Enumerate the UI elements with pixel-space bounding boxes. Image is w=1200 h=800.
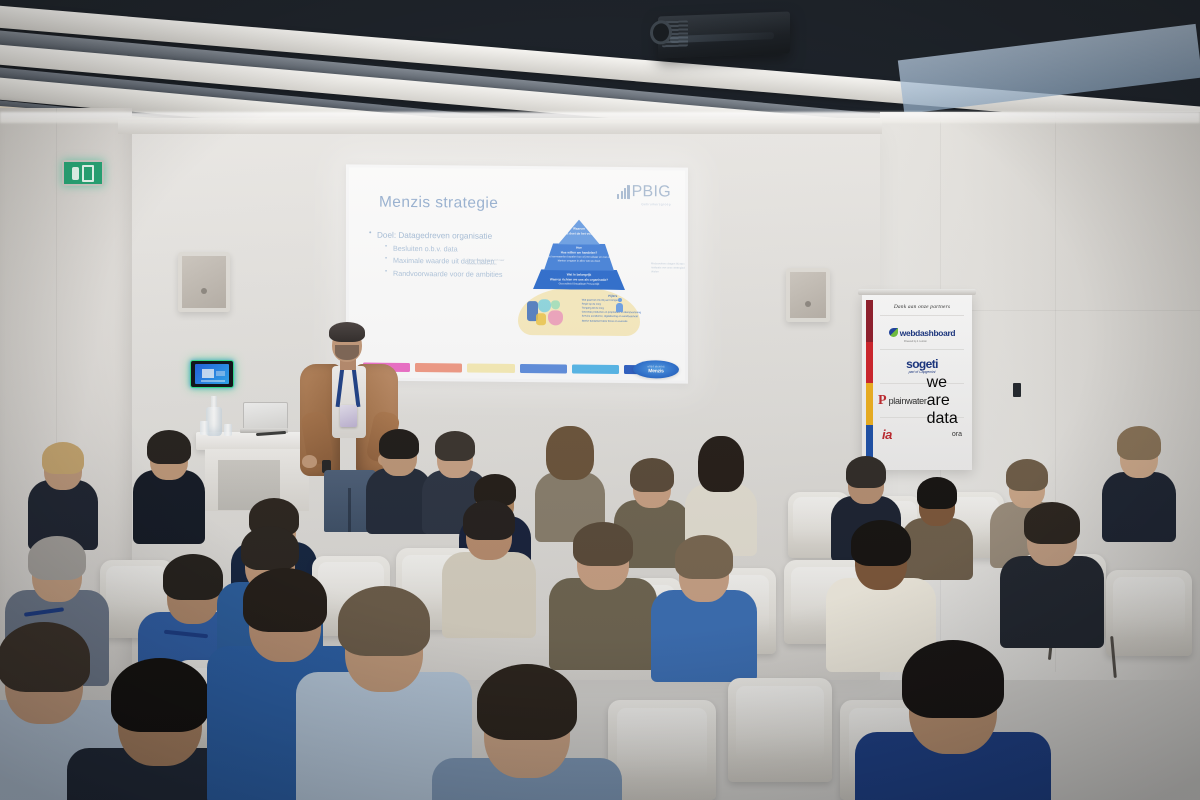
bar-chart-icon: [617, 186, 629, 199]
ia-name: ia: [882, 427, 892, 442]
person-hair: [1117, 426, 1161, 460]
pyramid-base-item: Sterke fundament door focus en executie: [582, 319, 644, 324]
audience-member: [1108, 424, 1170, 536]
audience-member: [452, 496, 526, 632]
speaker-cone: [805, 301, 811, 307]
menzis-logo: altijd dichtbij Menzis: [633, 360, 679, 378]
strip-swatch: [572, 365, 619, 374]
person-torso: [1102, 472, 1176, 542]
person-hair: [1006, 459, 1048, 491]
presenter-badge: [340, 405, 357, 427]
pyramid-tier1-heading: Wat doet de het voor?: [563, 231, 595, 235]
banner-divider: [880, 349, 964, 350]
webdashboard-tagline: Powered by d. Lumion: [904, 341, 927, 343]
person-figure-icon: [616, 298, 623, 312]
presenter-left-hand: [302, 455, 317, 468]
drinking-glass: [200, 421, 209, 435]
audience-member-foreground: [880, 636, 1026, 800]
strip-swatch: [520, 364, 567, 373]
webdashboard-mark-icon: [889, 328, 898, 337]
person-hair: [846, 456, 886, 488]
running-figure-glyph: [72, 167, 79, 180]
banner-divider: [880, 315, 964, 316]
pyramid-tier3-label: Wat is belangrijk: [567, 272, 591, 276]
exit-door-glyph: [82, 165, 94, 182]
person-hair: [0, 622, 90, 692]
menzis-logo-text: Menzis: [648, 368, 663, 374]
partner-banner: Dank aan onze partners webdashboard Powe…: [862, 294, 972, 470]
person-hair: [698, 436, 744, 492]
audience-member: [662, 530, 746, 674]
pyramid-tier-1: Waarom Wat doet de het voor?: [558, 219, 600, 244]
person-hair: [1024, 502, 1080, 544]
ceiling-light-strip: [0, 112, 1200, 123]
pyramid-tier-2: Hoe Hoe willen we handelen? Onze kernwaa…: [544, 243, 614, 271]
plainwater-tagline: we are data: [927, 374, 966, 428]
sogeti-name: sogeti: [906, 359, 938, 370]
presenter-beard: [335, 345, 359, 360]
plainwater-name: plainwater: [889, 396, 927, 406]
person-hair: [147, 430, 191, 464]
banner-headline: Dank aan onze partners: [878, 304, 966, 310]
slide-title: Menzis strategie: [379, 194, 498, 213]
ia-tagline: ora: [952, 431, 962, 438]
partner-logo-webdashboard: webdashboard Powered by d. Lumion: [878, 321, 966, 344]
bullet-level2: Randvoorwaarde voor de ambities: [385, 268, 509, 279]
person-hair: [463, 500, 515, 540]
pyramid-note-right: Medewerkers dragen bij aan de realisatie…: [651, 262, 685, 274]
partner-logo-plainwater: P plainwater we are data: [878, 389, 966, 412]
person-hair: [851, 520, 911, 566]
stripe-segment: [866, 383, 873, 425]
laptop-screen: [243, 402, 288, 431]
pyramid-tier-3: Wat is belangrijk Waarop richten we ons …: [533, 269, 625, 290]
person-hair: [42, 442, 84, 474]
pbig-logo-tagline: Gebruikersgroep: [641, 202, 671, 206]
bullet-level2: Besluiten o.b.v. data: [385, 244, 509, 255]
pyramid-tier2-sub: Onze kernwaarden bepalen hoe wij met elk…: [545, 255, 614, 262]
room-panel-screen: [195, 364, 229, 384]
strip-swatch: [467, 364, 514, 373]
person-torso: [549, 578, 657, 670]
banner-color-stripe: [866, 300, 873, 466]
pyramid-base-text: Pijlers Wat gaat het ons dit jaar brenge…: [582, 294, 644, 324]
pbig-logo-text: PBIG: [632, 184, 671, 200]
audience-member-foreground: [456, 662, 598, 800]
pyramid-tier2-label: Hoe: [576, 246, 582, 250]
person-hair: [435, 431, 475, 461]
person-hair: [477, 664, 577, 740]
pyramid-illustration-cluster: [525, 297, 569, 329]
room-booking-panel[interactable]: [190, 360, 234, 388]
person-hair: [111, 658, 209, 732]
person-torso: [1000, 556, 1104, 648]
presenter-hair: [329, 322, 365, 342]
right-wall-switch-panel[interactable]: [1013, 383, 1021, 397]
pyramid-tier2-heading: Hoe willen we handelen?: [561, 250, 598, 254]
drinking-glass: [224, 424, 232, 436]
person-hair: [243, 568, 327, 632]
left-wall-speaker: [178, 252, 230, 312]
bullet-level1: Doel: Datagedreven organisatie: [369, 230, 509, 242]
emergency-exit-icon: [62, 160, 104, 186]
slide-bullet-list: Doel: Datagedreven organisatie Besluiten…: [369, 230, 509, 282]
stripe-segment: [866, 342, 873, 384]
pyramid-note-left: Onze strategie vertaalt zich naar concre…: [467, 259, 509, 267]
person-hair: [917, 477, 957, 509]
presenter-leg-seam: [348, 488, 351, 532]
person-hair: [675, 535, 733, 579]
pyramid-tier3-heading: Waarop richten we ons als organisatie?: [550, 277, 608, 282]
person-hair: [902, 640, 1004, 718]
person-torso: [651, 590, 757, 682]
stripe-segment: [866, 300, 873, 342]
conference-room-scene: Menzis strategie PBIG Gebruikersgroep Do…: [0, 0, 1200, 800]
plainwater-mark-icon: P: [878, 395, 887, 406]
audience-member-foreground: [318, 580, 450, 800]
chair[interactable]: [1106, 570, 1192, 656]
chair[interactable]: [608, 700, 716, 800]
audience-member: [138, 424, 200, 542]
audience-member: [30, 432, 96, 542]
pyramid-tier1-label: Waarom: [573, 227, 585, 231]
strip-swatch: [415, 363, 462, 372]
person-hair: [163, 554, 223, 600]
right-wall-speaker: [786, 268, 830, 322]
strategy-pyramid-diagram: Onze strategie vertaalt zich naar concre…: [509, 213, 649, 342]
person-hair: [338, 586, 430, 656]
chair[interactable]: [728, 678, 832, 782]
speaker-cone: [201, 288, 207, 294]
pyramid-tier3-sub: Gezondheid Betaalbaar Persoonlijk: [559, 282, 600, 285]
audience-member: [370, 424, 428, 530]
person-torso: [133, 470, 205, 544]
person-hair: [379, 429, 419, 459]
person-hair: [630, 458, 674, 492]
audience-member: [560, 518, 646, 662]
person-hair: [546, 426, 594, 480]
webdashboard-name: webdashboard: [900, 328, 956, 338]
person-hair: [573, 522, 633, 566]
audience-member: [1010, 498, 1094, 640]
banner-rail: [858, 289, 976, 295]
pbig-logo: PBIG Gebruikersgroep: [617, 184, 671, 200]
person-hair: [28, 536, 86, 580]
ceiling-projector: [658, 11, 790, 58]
person-torso: [442, 552, 536, 638]
